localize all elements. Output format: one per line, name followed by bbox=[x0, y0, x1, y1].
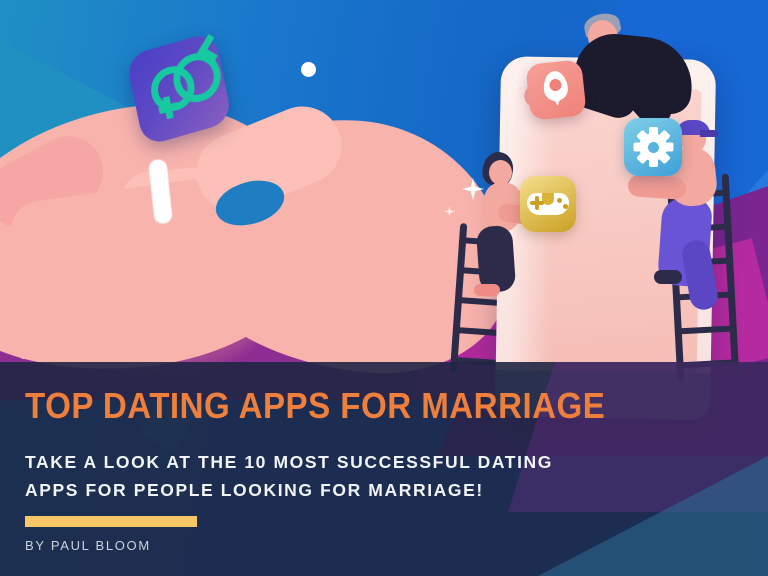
subtitle-line-1: TAKE A LOOK AT THE 10 MOST SUCCESSFUL DA… bbox=[25, 448, 645, 476]
byline: BY PAUL BLOOM bbox=[25, 538, 151, 553]
ladder-rung bbox=[675, 325, 737, 334]
man-on-right-ladder-arm bbox=[627, 174, 686, 200]
decorative-dot bbox=[301, 62, 316, 77]
location-pin-icon bbox=[525, 59, 587, 121]
gamepad-button bbox=[563, 204, 568, 209]
gear-center-hole bbox=[648, 142, 659, 153]
accent-rule bbox=[25, 516, 197, 527]
page-title: TOP DATING APPS FOR MARRIAGE bbox=[25, 388, 605, 424]
gamepad-button bbox=[557, 198, 562, 203]
man-on-right-ladder-cap-brim bbox=[700, 130, 718, 137]
article-hero-banner: TOP DATING APPS FOR MARRIAGE TAKE A LOOK… bbox=[0, 0, 768, 576]
woman-on-left-ladder-shoe bbox=[474, 284, 500, 296]
subtitle-line-2: APPS FOR PEOPLE LOOKING FOR MARRIAGE! bbox=[25, 476, 645, 504]
man-on-right-ladder-shoe bbox=[654, 270, 682, 284]
gamepad-dpad bbox=[535, 196, 539, 210]
woman-on-left-ladder-legs bbox=[476, 225, 517, 293]
gamepad-icon bbox=[520, 176, 576, 232]
gear-icon bbox=[624, 118, 682, 176]
subtitle: TAKE A LOOK AT THE 10 MOST SUCCESSFUL DA… bbox=[25, 448, 645, 504]
